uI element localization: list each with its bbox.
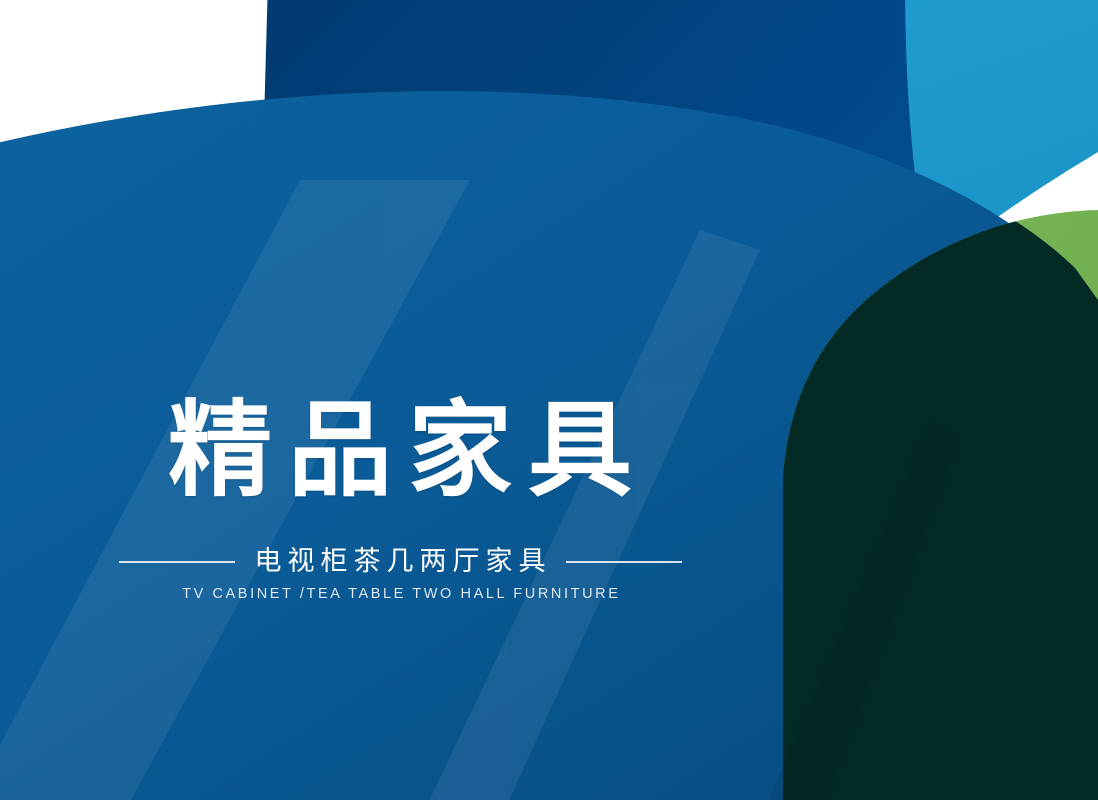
subtitle-english: TV CABINET /TEA TABLE TWO HALL FURNITURE <box>95 586 705 602</box>
page-title: 精品家具 <box>95 396 705 508</box>
divider-right <box>566 561 682 563</box>
subtitle-row: 电视柜茶几两厅家具 <box>95 548 705 575</box>
poster-canvas: 精品家具 电视柜茶几两厅家具 TV CABINET /TEA TABLE TWO… <box>0 0 1098 800</box>
divider-left <box>119 561 235 563</box>
poster-content: 精品家具 电视柜茶几两厅家具 TV CABINET /TEA TABLE TWO… <box>0 0 1098 800</box>
subtitle-chinese: 电视柜茶几两厅家具 <box>249 548 552 575</box>
title-block: 精品家具 <box>95 396 705 508</box>
